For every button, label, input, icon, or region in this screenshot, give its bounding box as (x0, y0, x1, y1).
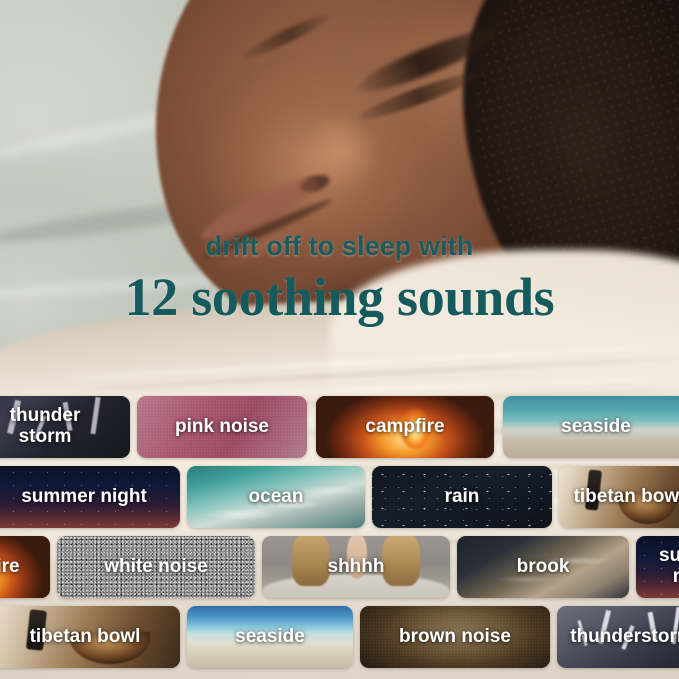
sound-card[interactable]: campfire (0, 536, 50, 598)
lightning-bolt-icon (90, 397, 100, 434)
sound-card[interactable]: seaside (503, 396, 679, 458)
sound-card-label: thunderstorm (562, 627, 679, 648)
sound-card-label: summer night (13, 487, 155, 508)
sound-card[interactable]: campfire (316, 396, 494, 458)
sound-card[interactable]: ocean (187, 466, 365, 528)
sound-card[interactable]: thunderstorm (557, 606, 679, 668)
sound-card-label: summer night (636, 546, 679, 587)
sound-card[interactable]: brown noise (360, 606, 550, 668)
sound-card-row: campfirewhite noiseshhhhbrooksummer nigh… (0, 536, 679, 598)
sound-card-label: campfire (357, 417, 452, 438)
sound-card[interactable]: summer night (636, 536, 679, 598)
sound-card[interactable]: seaside (187, 606, 353, 668)
sound-card-label: campfire (0, 557, 28, 578)
sound-card-label: shhhh (320, 557, 393, 578)
sound-card[interactable]: thunderstorm (0, 396, 130, 458)
sound-card-row: thunderstormpink noisecampfireseaside (0, 396, 679, 458)
sound-card-label: rain (437, 487, 488, 508)
shirt-shape (262, 574, 450, 598)
sound-card-label: thunderstorm (2, 406, 89, 447)
sound-card[interactable]: brook (457, 536, 629, 598)
sound-card[interactable]: pink noise (137, 396, 307, 458)
sound-card-label: brown noise (391, 627, 519, 648)
sound-card-label: ocean (241, 487, 312, 508)
sound-card[interactable]: shhhh (262, 536, 450, 598)
sound-card-row: summer nightoceanraintibetan bowl (0, 466, 679, 528)
sound-card-label: tibetan bowl (566, 487, 679, 508)
sound-card[interactable]: rain (372, 466, 552, 528)
sound-card-label: brook (509, 557, 578, 578)
sound-card[interactable]: tibetan bowl (559, 466, 679, 528)
promo-image: drift off to sleep with 12 soothing soun… (0, 0, 679, 679)
sound-card-label: seaside (553, 417, 639, 438)
sound-card-label: white noise (96, 557, 215, 578)
sound-card[interactable]: white noise (57, 536, 255, 598)
sound-card[interactable]: tibetan bowl (0, 606, 180, 668)
sound-card-label: seaside (227, 627, 313, 648)
sound-card-grid: thunderstormpink noisecampfireseasidesum… (0, 396, 679, 676)
sound-card-row: tibetan bowlseasidebrown noisethundersto… (0, 606, 679, 668)
sound-card[interactable]: summer night (0, 466, 180, 528)
sound-card-label: pink noise (167, 417, 277, 438)
sound-card-label: tibetan bowl (22, 627, 149, 648)
